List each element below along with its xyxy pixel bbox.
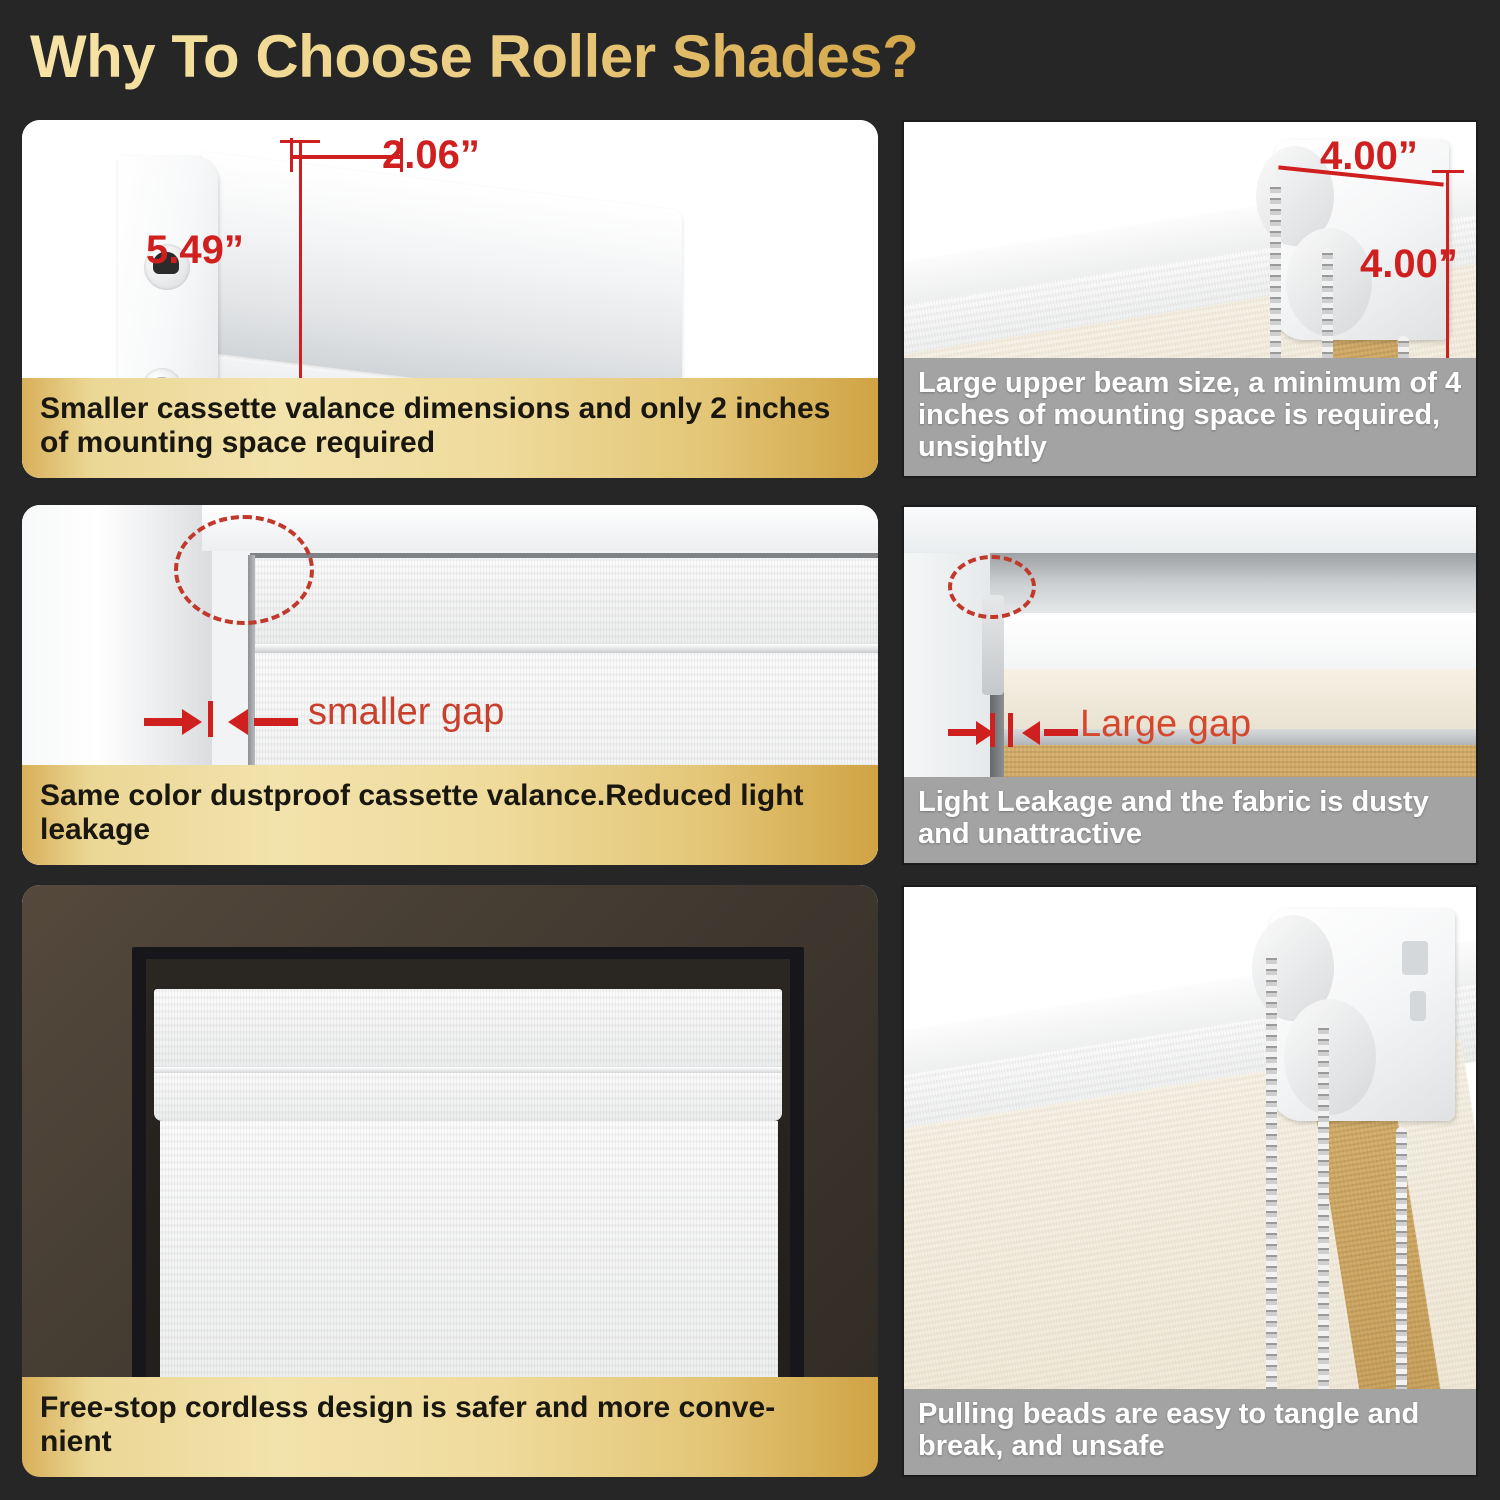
bracket-mount-slot-top <box>1402 941 1428 975</box>
roller-end-cap-disc-lower <box>1284 999 1376 1115</box>
panel-3-caption: Same color dustproof cassette valance.Re… <box>22 765 878 865</box>
valance-detail-circle <box>174 515 314 625</box>
width-dimension-label: 2.06” <box>382 133 480 178</box>
gap-highlight-circle <box>948 555 1036 619</box>
gap-tick-outer <box>1008 713 1013 747</box>
panel-smaller-cassette: 2.06” 5.49” Smaller cassette valance dim… <box>22 120 878 478</box>
beam-height-label: 4.00” <box>1360 242 1458 287</box>
gap-arrow-left-head <box>182 709 202 735</box>
shade-fabric-panel <box>160 1121 778 1409</box>
panel-light-leakage: Large gap Light Leakage and the fabric i… <box>902 505 1478 865</box>
panel-pulling-beads: Pulling beads are easy to tangle and bre… <box>902 885 1478 1477</box>
page-title: Why To Choose Roller Shades? <box>30 18 1130 96</box>
large-gap-label: Large gap <box>1080 703 1251 746</box>
gap-arrow-right-head <box>1022 721 1040 745</box>
panel-cordless-design: Free-stop cordless design is safer and m… <box>22 885 878 1477</box>
valance-cassette <box>154 989 782 1069</box>
bracket-mount-slot-bottom <box>1410 991 1426 1021</box>
panel-4-caption: Light Leakage and the fabric is dusty an… <box>904 777 1476 863</box>
smaller-gap-label: smaller gap <box>308 691 504 734</box>
height-dimension-label: 5.49” <box>146 228 244 273</box>
gap-arrow-right-head <box>228 709 248 735</box>
panel-6-caption: Pulling beads are easy to tangle and bre… <box>904 1389 1476 1475</box>
panel-6-photo <box>904 887 1476 1475</box>
gap-tick <box>208 701 213 737</box>
beam-top <box>966 553 1476 619</box>
beam-height-tick-top <box>1432 170 1464 173</box>
gap-arrow-right <box>254 718 298 726</box>
width-dim-tick-left <box>290 138 293 172</box>
panel-2-caption: Large upper beam size, a minimum of 4 in… <box>904 358 1476 476</box>
valance-lip-shadow <box>250 553 878 558</box>
wall-surface <box>904 507 1476 559</box>
beam-width-label: 4.00” <box>1320 134 1418 179</box>
valance-lower-lip <box>154 1073 782 1121</box>
height-dim-tick-top <box>280 140 320 143</box>
infographic-root: Why To Choose Roller Shades? 2.06” <box>0 0 1500 1500</box>
panel-dustproof-valance: smaller gap Same color dustproof cassett… <box>22 505 878 865</box>
panel-5-caption: Free-stop cordless design is safer and m… <box>22 1377 878 1477</box>
valance-headrail <box>250 555 878 645</box>
gap-tick-inner <box>990 713 995 747</box>
valance-bottom-edge <box>250 644 878 653</box>
panel-1-caption: Smaller cassette valance dimensions and … <box>22 378 878 478</box>
bead-chain-front <box>1266 953 1277 1459</box>
panel-large-beam: 4.00” 4.00” Large upper beam size, a min… <box>902 120 1478 478</box>
beam-front <box>992 613 1476 677</box>
gap-arrow-right <box>1044 729 1078 736</box>
